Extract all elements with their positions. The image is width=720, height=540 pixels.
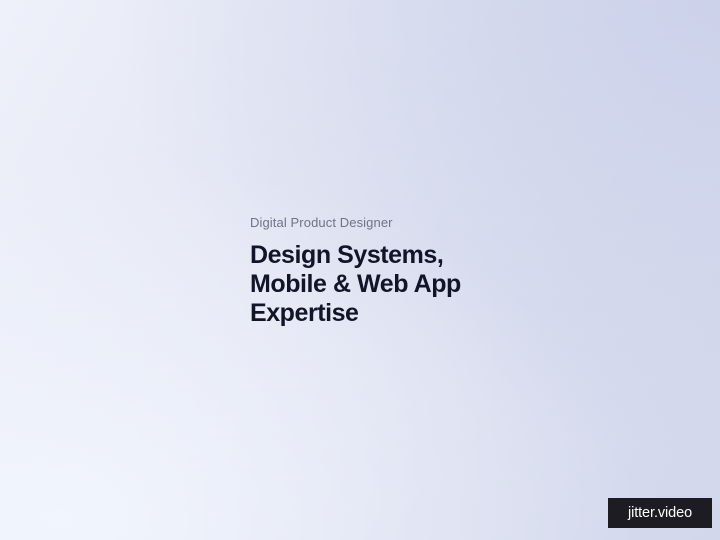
headline-line-1: Design Systems, xyxy=(250,241,610,270)
watermark-label: jitter.video xyxy=(628,506,692,521)
title-slide: Digital Product Designer Design Systems,… xyxy=(0,0,720,540)
watermark-badge: jitter.video xyxy=(608,498,712,528)
headline-line-2: Mobile & Web App xyxy=(250,270,610,299)
headline-line-3: Expertise xyxy=(250,299,610,328)
page-title: Design Systems, Mobile & Web App Experti… xyxy=(250,241,610,328)
text-block: Digital Product Designer Design Systems,… xyxy=(250,214,610,328)
eyebrow-text: Digital Product Designer xyxy=(250,214,610,232)
